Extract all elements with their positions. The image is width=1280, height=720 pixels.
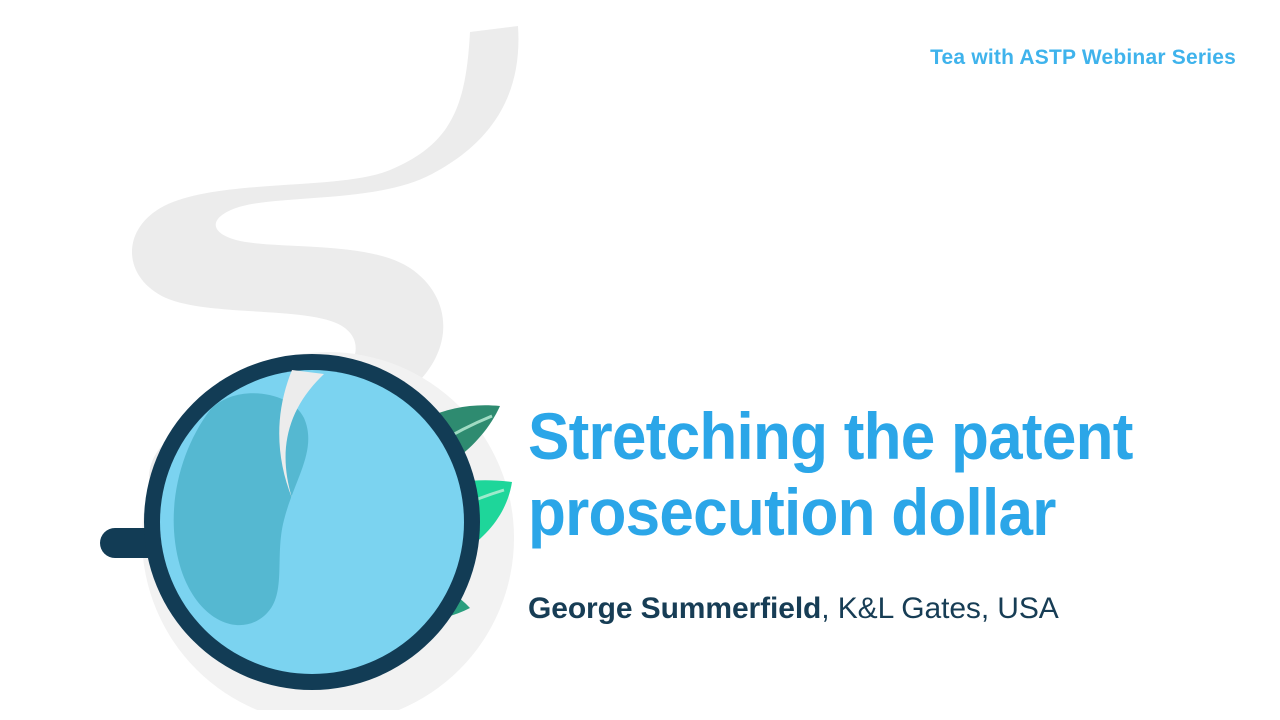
speaker-name: George Summerfield	[528, 592, 821, 625]
teacup-illustration	[60, 10, 580, 710]
title-block: Stretching the patent prosecution dollar…	[528, 398, 1228, 628]
talk-title: Stretching the patent prosecution dollar	[528, 398, 1186, 550]
slide-canvas: Tea with ASTP Webinar Series	[0, 0, 1280, 720]
teacup-circle	[144, 354, 480, 690]
speaker-line: George Summerfield, K&L Gates, USA	[528, 550, 1228, 628]
speaker-affiliation: , K&L Gates, USA	[821, 592, 1058, 625]
webinar-series-label: Tea with ASTP Webinar Series	[930, 46, 1236, 70]
